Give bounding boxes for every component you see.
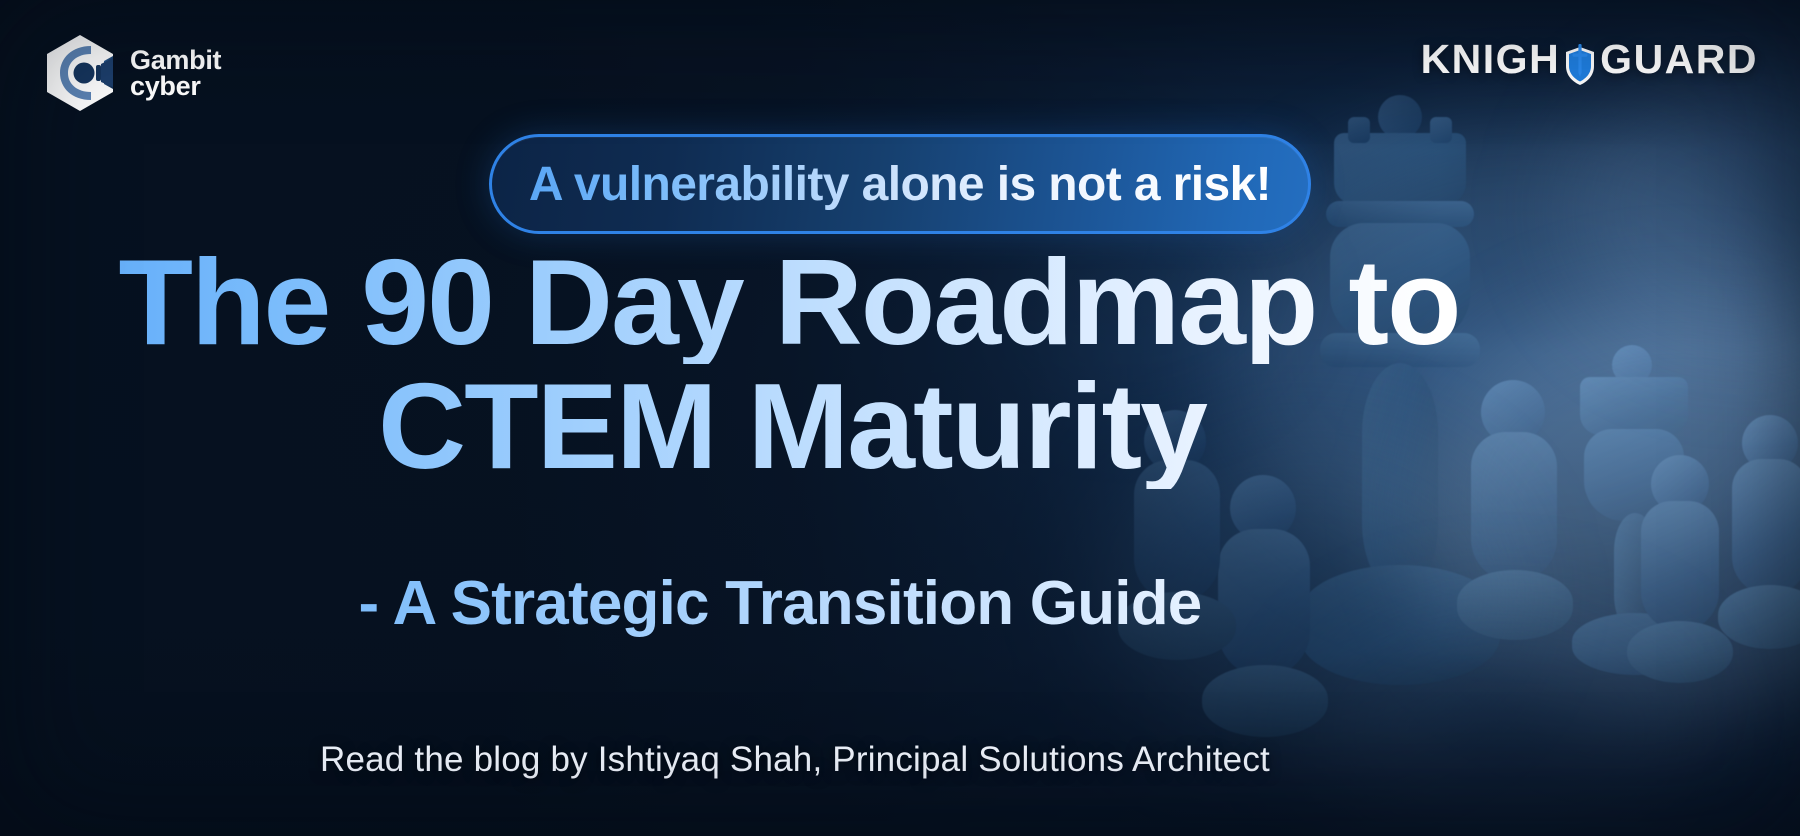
gambit-cyber-wordmark: Gambit cyber — [130, 47, 221, 100]
headline-line-2: CTEM Maturity — [24, 364, 1560, 488]
tagline-badge: A vulnerability alone is not a risk! — [489, 134, 1311, 234]
knightguard-text-after: GUARD — [1600, 36, 1758, 83]
logo-line-2: cyber — [130, 73, 221, 99]
page-title: The 90 Day Roadmap to CTEM Maturity — [0, 240, 1560, 489]
byline: Read the blog by Ishtiyaq Shah, Principa… — [0, 740, 1800, 780]
headline-subline: - A Strategic Transition Guide — [0, 568, 1560, 639]
gambit-cyber-logo[interactable]: Gambit cyber — [44, 34, 221, 112]
byline-text: Read the blog by Ishtiyaq Shah, Principa… — [320, 740, 1270, 780]
headline-line-1: The 90 Day Roadmap to — [18, 240, 1560, 364]
tagline-badge-text: A vulnerability alone is not a risk! — [529, 157, 1271, 212]
gambit-hexagon-icon — [44, 34, 116, 112]
promo-banner: Gambit cyber KNIGH GUARD A vulnerability… — [0, 0, 1800, 836]
knightguard-logo[interactable]: KNIGH GUARD — [1421, 36, 1758, 83]
shield-sword-icon — [1563, 43, 1597, 83]
knightguard-text-before: KNIGH — [1421, 36, 1561, 83]
